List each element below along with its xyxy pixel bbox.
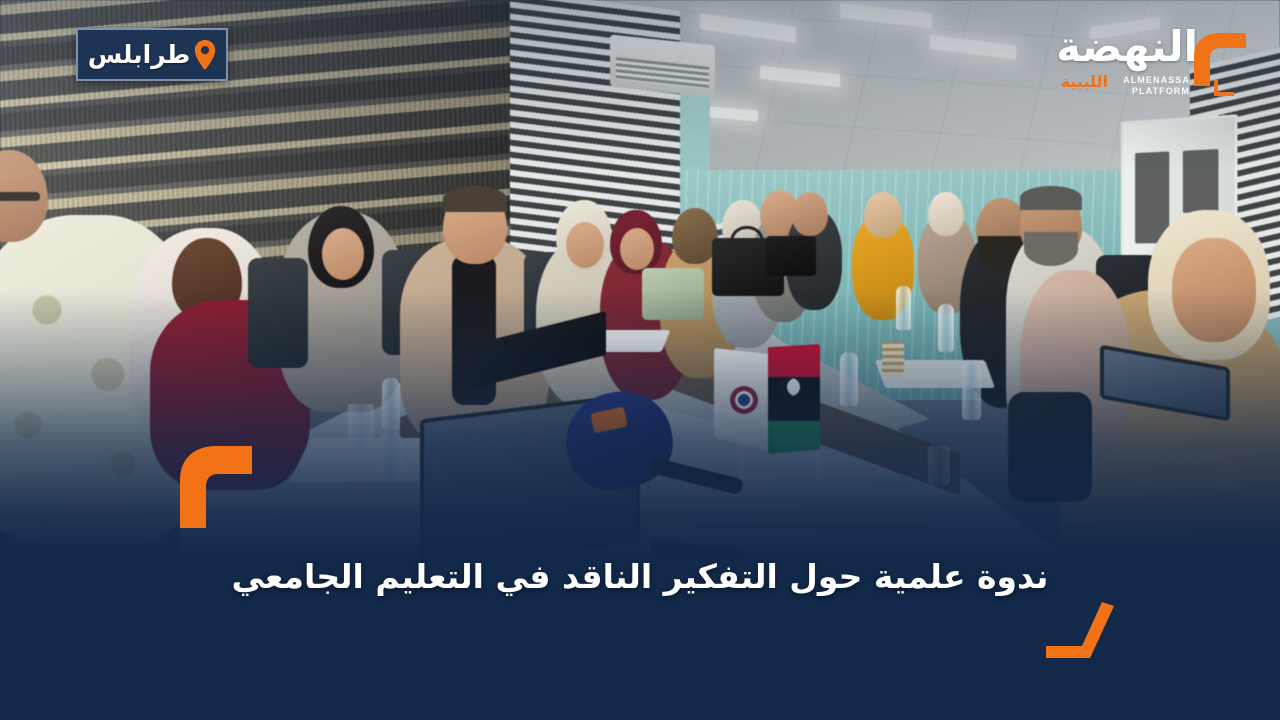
attendee-face	[620, 228, 654, 270]
office-chair	[248, 258, 308, 368]
logo-subtitle-english: ALMENASSAPLATFORM	[1123, 75, 1190, 98]
air-conditioner	[610, 34, 715, 97]
attendee-beard	[1024, 232, 1078, 266]
water-bottle	[380, 432, 402, 482]
water-bottle	[382, 378, 400, 430]
location-badge: طرابلس	[76, 28, 228, 81]
logo-subtitle-en-line2: PLATFORM	[1132, 86, 1190, 96]
backpack	[1008, 392, 1092, 502]
attendee-head	[792, 192, 828, 236]
attendee-head	[928, 192, 964, 236]
libya-flag-crescent	[782, 378, 800, 396]
map-pin-icon	[194, 40, 216, 70]
attendee-hair	[1020, 186, 1082, 210]
snack-cup	[882, 342, 904, 376]
water-bottle	[896, 286, 911, 330]
headline-title: ندوة علمية حول التفكير الناقد في التعليم…	[0, 555, 1280, 600]
attendee-hair	[443, 186, 507, 212]
news-card: طرابلس النهضة الليبية ALMENASSAPLATFORM …	[0, 0, 1280, 720]
glass	[348, 404, 374, 448]
institution-flag-emblem	[730, 386, 758, 414]
orange-tick-icon	[1210, 76, 1236, 98]
handbag	[642, 268, 704, 320]
attendee-head	[864, 192, 902, 238]
logo-name-arabic: النهضة	[1056, 26, 1198, 68]
logo-subtitle-en-line1: ALMENASSA	[1123, 75, 1190, 85]
libya-flag	[768, 344, 820, 454]
channel-logo: النهضة الليبية ALMENASSAPLATFORM	[1040, 20, 1250, 102]
water-bottle	[938, 304, 954, 352]
orange-corner-bracket-icon	[1044, 600, 1118, 662]
logo-subtitle-arabic: الليبية	[1061, 74, 1108, 90]
attendee-face	[1172, 238, 1256, 342]
location-label: طرابلس	[88, 42, 191, 67]
eyeglasses	[0, 192, 40, 201]
attendee-face	[322, 228, 364, 280]
attendee-face	[566, 222, 604, 268]
handbag	[766, 236, 816, 276]
water-bottle	[840, 352, 858, 406]
water-bottle	[962, 362, 981, 420]
orange-elbow-bracket-icon	[172, 444, 254, 528]
glass	[928, 446, 950, 486]
